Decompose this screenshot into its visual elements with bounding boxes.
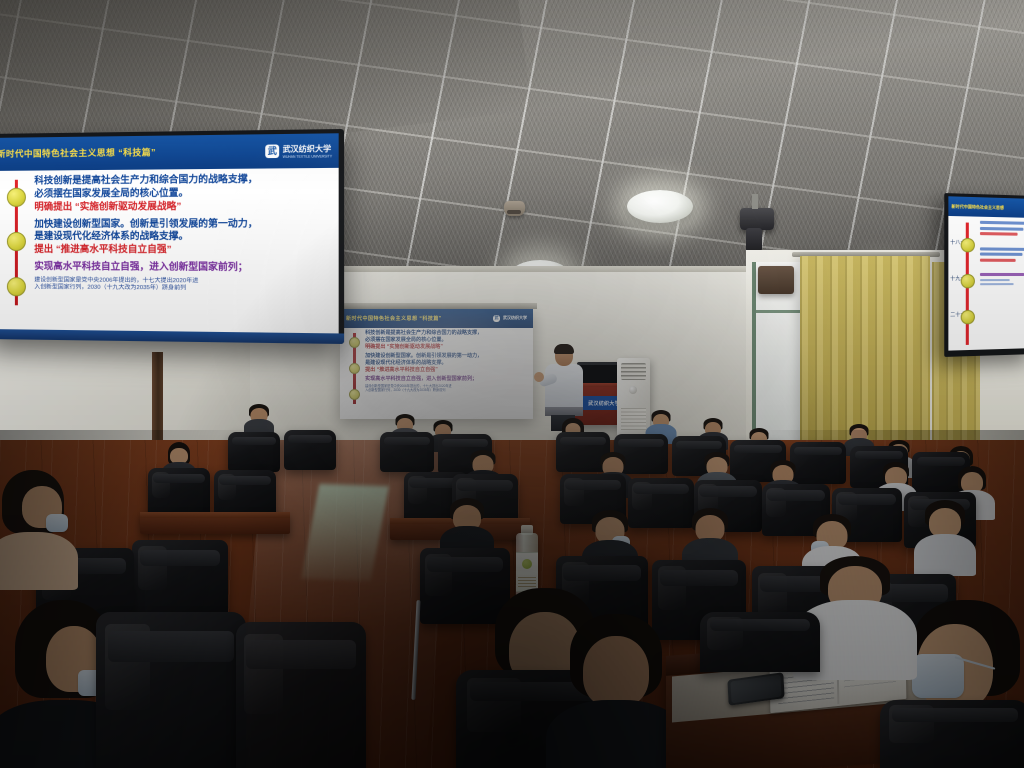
- slide-timeline: 十八大 十九大 二十大: [948, 216, 977, 350]
- display-panel: 新时代中国特色社会主义思想 十八大 十九大 二十大: [948, 196, 1024, 350]
- timeline-node: [6, 187, 25, 206]
- slide-line: 明确提出 “实施创新驱动发展战略”: [365, 344, 527, 351]
- timeline-node: [960, 274, 974, 288]
- attendee: [556, 614, 676, 768]
- slide-paragraph: 加快建设创新型国家。创新是引领发展的第一动力， 是建设现代化经济体系的战略支撑。…: [365, 353, 527, 374]
- slide-header: 新时代中国特色社会主义思想 “科技篇” 武 武汉纺织大学: [340, 309, 533, 328]
- seat: [700, 612, 820, 672]
- slide-text: [977, 217, 1024, 350]
- seat: [228, 432, 280, 472]
- slide-line: 提出 “推进高水平科技自立自强”: [365, 367, 527, 374]
- presenter: [542, 345, 586, 429]
- bottle-fruit-icon: [522, 559, 532, 569]
- slide-title: 新时代中国特色社会主义思想 “科技篇”: [0, 146, 156, 160]
- timeline-node: [6, 232, 25, 251]
- university-logo-icon: 武: [265, 144, 279, 158]
- seat: [214, 470, 276, 518]
- ac-grill: [621, 408, 646, 430]
- timeline-node: [349, 389, 360, 400]
- timeline-node: [349, 337, 360, 348]
- slide-footnote-line: 入创新型国家行列，2030（十九大改为2035年）跻身前列: [34, 284, 327, 294]
- slide-text: 科技创新是提高社会生产力和综合国力的战略支撑， 必须摆在国家发展全局的核心位置。…: [365, 330, 527, 417]
- timeline-node: [349, 363, 360, 374]
- slide-timeline: [350, 333, 360, 404]
- ceiling-camera-icon: [740, 208, 774, 230]
- slide-logo: 武 武汉纺织大学 WUHAN TEXTILE UNIVERSITY: [265, 142, 338, 158]
- slide-paragraph: 科技创新是提高社会生产力和综合国力的战略支撑， 必须摆在国家发展全局的核心位置。…: [365, 330, 527, 351]
- slide: 新时代中国特色社会主义思想 “科技篇” 武 武汉纺织大学 WUHAN TEXTI…: [0, 133, 339, 334]
- camera-mount-arm: [746, 228, 762, 252]
- slide-header: 新时代中国特色社会主义思想 “科技篇” 武 武汉纺织大学 WUHAN TEXTI…: [0, 133, 339, 170]
- slide-timeline: [8, 180, 25, 305]
- bottle-label: [516, 552, 538, 592]
- slide-body: 科技创新是提高社会生产力和综合国力的战略支撑， 必须摆在国家发展全局的核心位置。…: [340, 328, 533, 419]
- timeline-node: [960, 310, 974, 325]
- slide-footnote-line: 入创新型国家行列，2030（十九大改为2035年）跻身前列: [365, 389, 527, 393]
- slide-body: 十八大 十九大 二十大: [948, 216, 1024, 350]
- ac-vent: [621, 363, 646, 380]
- wall-display-right[interactable]: 新时代中国特色社会主义思想 十八大 十九大 二十大: [944, 193, 1024, 357]
- slide-line: 提出 “推进高水平科技自立自强”: [34, 243, 327, 257]
- university-name-cn: 武汉纺织大学: [503, 315, 527, 321]
- timeline-node: [960, 238, 974, 253]
- seat: [148, 468, 210, 516]
- slide-paragraph: 实现高水平科技自立自强，进入创新型国家前列；: [34, 260, 327, 274]
- slide-header: 新时代中国特色社会主义思想: [948, 196, 1024, 218]
- presenter-hand: [534, 372, 544, 382]
- slide-line: 实现高水平科技自立自强，进入创新型国家前列；: [34, 260, 327, 274]
- university-logo-icon: 武: [493, 315, 500, 322]
- slide-paragraph: 加快建设创新型国家。创新是引领发展的第一动力， 是建设现代化经济体系的战略支撑。…: [34, 217, 327, 257]
- slide-paragraph: 实现高水平科技自立自强，进入创新型国家前列；: [365, 376, 527, 383]
- slide-body: 科技创新是提高社会生产力和综合国力的战略支撑， 必须摆在国家发展全局的核心位置。…: [0, 167, 339, 334]
- desk: [140, 512, 290, 534]
- slide-logo: 武 武汉纺织大学: [493, 315, 533, 322]
- presenter-hair: [554, 344, 574, 354]
- air-conditioner: [617, 358, 650, 436]
- attendee: [246, 404, 272, 434]
- slide-text: 科技创新是提高社会生产力和综合国力的战略支撑， 必须摆在国家发展全局的核心位置。…: [34, 173, 327, 331]
- wall-display-left[interactable]: 新时代中国特色社会主义思想 “科技篇” 武 武汉纺织大学 WUHAN TEXTI…: [0, 129, 344, 344]
- seat: [236, 622, 366, 768]
- lecture-hall-photo: 新时代中国特色社会主义思想 “科技篇” 武 武汉纺织大学 科技创新是提高社会生产…: [0, 0, 1024, 768]
- attendee: [0, 470, 72, 580]
- slide-footnote: 建设创新型国家是党中央2006年提出的，十七大提出2020年进 入创新型国家行列…: [365, 385, 527, 393]
- projected-slide: 新时代中国特色社会主义思想 “科技篇” 武 武汉纺织大学 科技创新是提高社会生产…: [340, 309, 533, 419]
- seat: [380, 432, 434, 472]
- slide-line: 加快建设创新型国家。创新是引领发展的第一动力，: [34, 217, 327, 231]
- slide-footnote: 建设创新型国家是党中央2006年提出的，十七大提出2020年进 入创新型国家行列…: [34, 277, 327, 294]
- seat: [96, 612, 246, 768]
- slide-line: 实现高水平科技自立自强，进入创新型国家前列；: [365, 376, 527, 383]
- seat: [880, 700, 1024, 768]
- university-name-cn: 武汉纺织大学: [283, 143, 333, 155]
- slide-line: 明确提出 “实施创新驱动发展战略”: [34, 199, 327, 213]
- attendee: [918, 500, 972, 568]
- slide-paragraph: 科技创新是提高社会生产力和综合国力的战略支撑， 必须摆在国家发展全局的核心位置。…: [34, 173, 327, 214]
- seat: [284, 430, 336, 470]
- slide-line: 是建设现代化经济体系的战略支撑。: [34, 230, 327, 243]
- slide: 新时代中国特色社会主义思想 十八大 十九大 二十大: [948, 196, 1024, 350]
- seat: [628, 478, 694, 528]
- wall-speaker: [758, 266, 794, 294]
- projection-screen: 新时代中国特色社会主义思想 “科技篇” 武 武汉纺织大学 科技创新是提高社会生产…: [340, 309, 533, 419]
- ac-dial-icon: [629, 386, 637, 394]
- ceiling-lamp: [627, 190, 693, 223]
- seat: [132, 540, 228, 620]
- slide-title: 新时代中国特色社会主义思想 “科技篇”: [340, 315, 442, 322]
- smoke-detector-icon: [504, 201, 525, 216]
- display-panel: 新时代中国特色社会主义思想 “科技篇” 武 武汉纺织大学 WUHAN TEXTI…: [0, 133, 339, 334]
- bottle-label-text: [518, 575, 536, 587]
- timeline-node: [6, 277, 25, 296]
- university-name-en: WUHAN TEXTILE UNIVERSITY: [283, 154, 333, 159]
- slide-title: 新时代中国特色社会主义思想: [948, 203, 1003, 211]
